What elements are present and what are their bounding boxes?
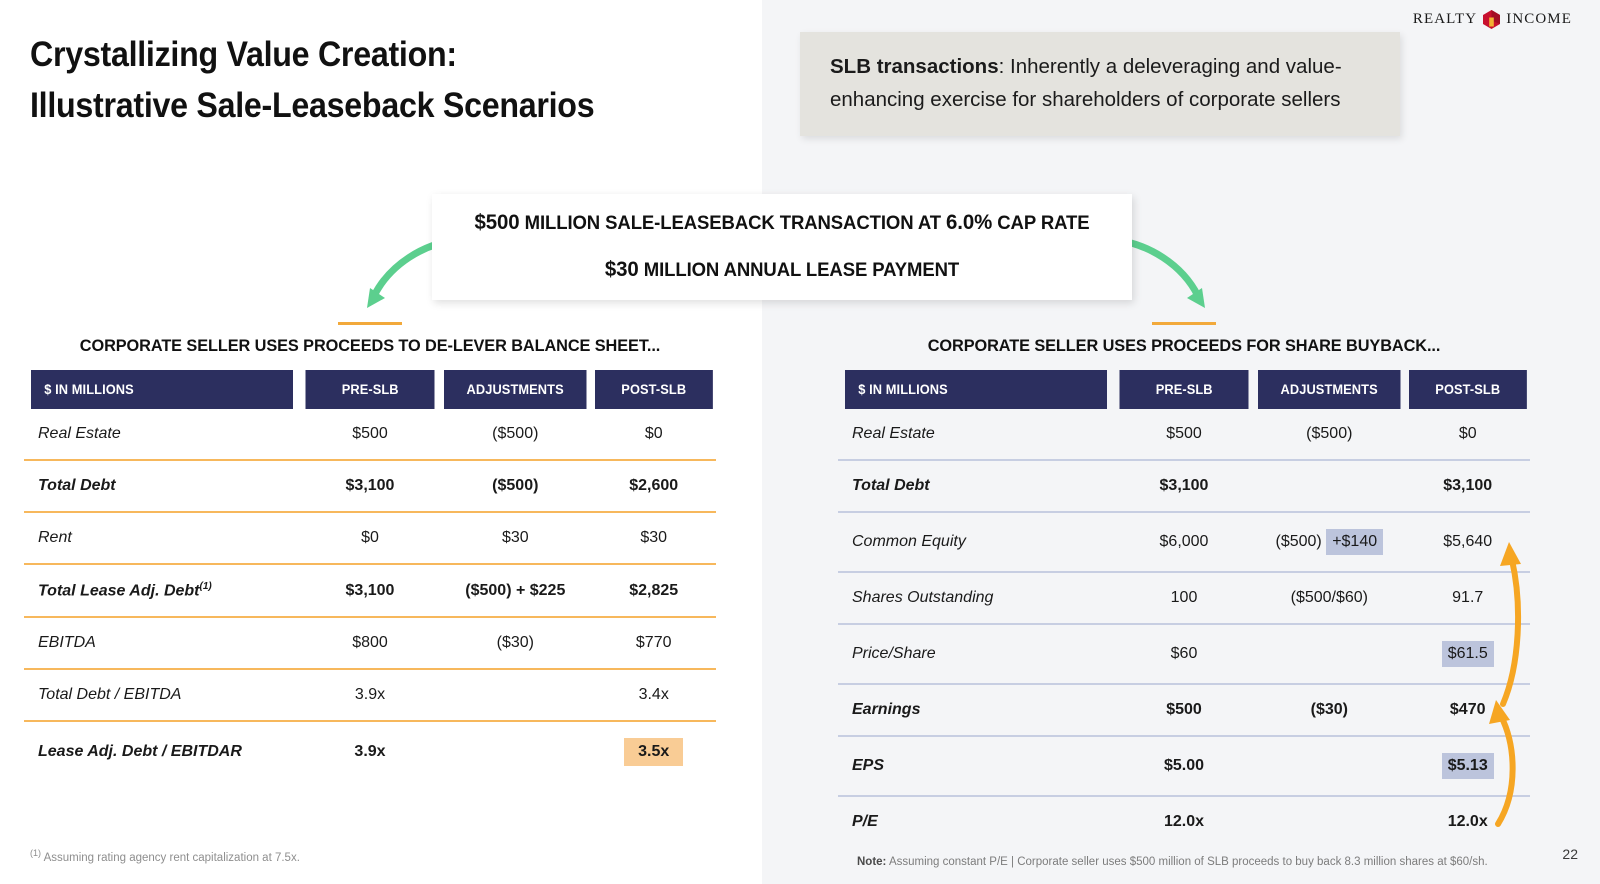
cell-post-slb: 3.4x bbox=[591, 669, 716, 721]
banner-cap-rate: 6.0% bbox=[946, 210, 992, 234]
left-footnote: (1) Assuming rating agency rent capitali… bbox=[30, 848, 300, 864]
cell-post-slb: $3,100 bbox=[1405, 460, 1530, 512]
value-highlight: 3.5x bbox=[624, 738, 683, 766]
banner-amount-1: $500 bbox=[474, 210, 519, 234]
note-lead: Note: bbox=[857, 856, 886, 868]
cell-adjustments: ($500) bbox=[439, 409, 591, 460]
column-header-adjustments: ADJUSTMENTS bbox=[1257, 370, 1402, 409]
cell-pre-slb: 3.9x bbox=[301, 721, 439, 782]
row-label: Rent bbox=[24, 512, 301, 564]
row-label: Total Lease Adj. Debt(1) bbox=[24, 564, 301, 617]
row-label: Earnings bbox=[838, 684, 1115, 736]
table-row: Earnings$500($30)$470 bbox=[838, 684, 1530, 736]
logo-text-right: INCOME bbox=[1506, 11, 1572, 28]
page-number: 22 bbox=[1562, 846, 1578, 862]
left-section-rule bbox=[338, 322, 402, 325]
row-label: EBITDA bbox=[24, 617, 301, 669]
cell-adjustments: ($30) bbox=[1253, 684, 1405, 736]
row-label: Lease Adj. Debt / EBITDAR bbox=[24, 721, 301, 782]
cell-post-slb: $770 bbox=[591, 617, 716, 669]
table-row: Total Debt$3,100$3,100 bbox=[838, 460, 1530, 512]
slb-callout-box: SLB transactions: Inherently a deleverag… bbox=[800, 32, 1400, 136]
table-row: Lease Adj. Debt / EBITDAR3.9x3.5x bbox=[24, 721, 716, 782]
row-label: Total Debt bbox=[24, 460, 301, 512]
row-label: EPS bbox=[838, 736, 1115, 796]
cell-adjustments: ($500) + $225 bbox=[439, 564, 591, 617]
table-row: Total Lease Adj. Debt(1)$3,100($500) + $… bbox=[24, 564, 716, 617]
cell-pre-slb: $800 bbox=[301, 617, 439, 669]
table-row: Shares Outstanding100($500/$60)91.7 bbox=[838, 572, 1530, 624]
transaction-banner: $500 MILLION SALE-LEASEBACK TRANSACTION … bbox=[432, 194, 1132, 300]
note-body: Assuming constant P/E | Corporate seller… bbox=[886, 856, 1487, 868]
table-row: EBITDA$800($30)$770 bbox=[24, 617, 716, 669]
right-note: Note: Assuming constant P/E | Corporate … bbox=[857, 856, 1488, 868]
cell-pre-slb: 3.9x bbox=[301, 669, 439, 721]
cell-post-slb: $2,825 bbox=[591, 564, 716, 617]
table-row: Real Estate$500($500)$0 bbox=[838, 409, 1530, 460]
cell-pre-slb: $3,100 bbox=[301, 460, 439, 512]
cell-adjustments bbox=[1253, 460, 1405, 512]
column-header-pre-slb: PRE-SLB bbox=[304, 370, 435, 409]
cell-adjustments bbox=[1253, 736, 1405, 796]
cell-pre-slb: $3,100 bbox=[1115, 460, 1253, 512]
row-label: Shares Outstanding bbox=[838, 572, 1115, 624]
column-header-post-slb: POST-SLB bbox=[595, 370, 713, 409]
table-header-row: $ IN MILLIONS PRE-SLB ADJUSTMENTS POST-S… bbox=[838, 370, 1530, 409]
footnote-superscript: (1) bbox=[200, 581, 212, 592]
logo-text-left: REALTY bbox=[1413, 11, 1477, 28]
banner-amount-2: $30 bbox=[605, 257, 639, 281]
cell-adjustments bbox=[439, 721, 591, 782]
table-row: Total Debt / EBITDA3.9x3.4x bbox=[24, 669, 716, 721]
row-label: Price/Share bbox=[838, 624, 1115, 684]
cell-pre-slb: 12.0x bbox=[1115, 796, 1253, 847]
row-label: Total Debt bbox=[838, 460, 1115, 512]
slide-canvas: REALTY INCOME Crystallizing Value Creati… bbox=[0, 0, 1600, 884]
table-row: Price/Share$60$61.5 bbox=[838, 624, 1530, 684]
cell-adjustments bbox=[1253, 796, 1405, 847]
cell-post-slb: $30 bbox=[591, 512, 716, 564]
cell-pre-slb: $500 bbox=[1115, 409, 1253, 460]
row-label: Real Estate bbox=[24, 409, 301, 460]
table-header-row: $ IN MILLIONS PRE-SLB ADJUSTMENTS POST-S… bbox=[24, 370, 716, 409]
right-section-rule bbox=[1152, 322, 1216, 325]
cell-pre-slb: $500 bbox=[1115, 684, 1253, 736]
cell-adjustments: ($500/$60) bbox=[1253, 572, 1405, 624]
left-scenario-column: CORPORATE SELLER USES PROCEEDS TO DE-LEV… bbox=[24, 322, 716, 782]
cell-adjustments: ($30) bbox=[439, 617, 591, 669]
callout-lead: SLB transactions bbox=[830, 55, 999, 78]
banner-text-1: MILLION SALE-LEASEBACK TRANSACTION AT bbox=[520, 212, 946, 234]
house-icon bbox=[1483, 10, 1500, 29]
footnote-text: Assuming rating agency rent capitalizati… bbox=[44, 852, 300, 864]
realty-income-logo: REALTY INCOME bbox=[1413, 10, 1572, 29]
row-label: Real Estate bbox=[838, 409, 1115, 460]
banner-text-2: MILLION ANNUAL LEASE PAYMENT bbox=[639, 259, 959, 281]
orange-arrows-icon bbox=[1478, 534, 1538, 839]
row-label: P/E bbox=[838, 796, 1115, 847]
cell-adjustments bbox=[439, 669, 591, 721]
table-row: Common Equity$6,000($500) +$140$5,640 bbox=[838, 512, 1530, 572]
column-header-label: $ IN MILLIONS bbox=[31, 370, 294, 409]
cell-pre-slb: $0 bbox=[301, 512, 439, 564]
cell-post-slb: $0 bbox=[591, 409, 716, 460]
table-row: P/E12.0x12.0x bbox=[838, 796, 1530, 847]
row-label: Total Debt / EBITDA bbox=[24, 669, 301, 721]
cell-pre-slb: 100 bbox=[1115, 572, 1253, 624]
cell-adjustments: ($500) bbox=[1253, 409, 1405, 460]
cell-post-slb: 3.5x bbox=[591, 721, 716, 782]
column-header-label: $ IN MILLIONS bbox=[845, 370, 1108, 409]
footnote-marker: (1) bbox=[30, 848, 41, 858]
banner-tail-1: CAP RATE bbox=[992, 212, 1089, 234]
right-financial-table: $ IN MILLIONS PRE-SLB ADJUSTMENTS POST-S… bbox=[838, 370, 1530, 847]
banner-line-2: $30 MILLION ANNUAL LEASE PAYMENT bbox=[459, 257, 1105, 282]
column-header-adjustments: ADJUSTMENTS bbox=[443, 370, 588, 409]
cell-pre-slb: $3,100 bbox=[301, 564, 439, 617]
page-title: Crystallizing Value Creation: Illustrati… bbox=[30, 30, 594, 132]
right-section-title: CORPORATE SELLER USES PROCEEDS FOR SHARE… bbox=[852, 335, 1516, 358]
cell-adjustments: $30 bbox=[439, 512, 591, 564]
cell-pre-slb: $5.00 bbox=[1115, 736, 1253, 796]
column-header-pre-slb: PRE-SLB bbox=[1118, 370, 1249, 409]
cell-adjustments: ($500) bbox=[439, 460, 591, 512]
cell-pre-slb: $500 bbox=[301, 409, 439, 460]
right-scenario-column: CORPORATE SELLER USES PROCEEDS FOR SHARE… bbox=[838, 322, 1530, 847]
left-section-title: CORPORATE SELLER USES PROCEEDS TO DE-LEV… bbox=[38, 335, 702, 358]
cell-adjustments: ($500) +$140 bbox=[1253, 512, 1405, 572]
table-row: Rent$0$30$30 bbox=[24, 512, 716, 564]
row-label: Common Equity bbox=[838, 512, 1115, 572]
table-row: Real Estate$500($500)$0 bbox=[24, 409, 716, 460]
cell-post-slb: $2,600 bbox=[591, 460, 716, 512]
table-row: Total Debt$3,100($500)$2,600 bbox=[24, 460, 716, 512]
cell-adjustments bbox=[1253, 624, 1405, 684]
table-row: EPS$5.00$5.13 bbox=[838, 736, 1530, 796]
cell-post-slb: $0 bbox=[1405, 409, 1530, 460]
cell-pre-slb: $6,000 bbox=[1115, 512, 1253, 572]
left-financial-table: $ IN MILLIONS PRE-SLB ADJUSTMENTS POST-S… bbox=[24, 370, 716, 782]
column-header-post-slb: POST-SLB bbox=[1409, 370, 1527, 409]
value-highlight: +$140 bbox=[1326, 529, 1383, 555]
cell-pre-slb: $60 bbox=[1115, 624, 1253, 684]
banner-line-1: $500 MILLION SALE-LEASEBACK TRANSACTION … bbox=[459, 210, 1105, 235]
